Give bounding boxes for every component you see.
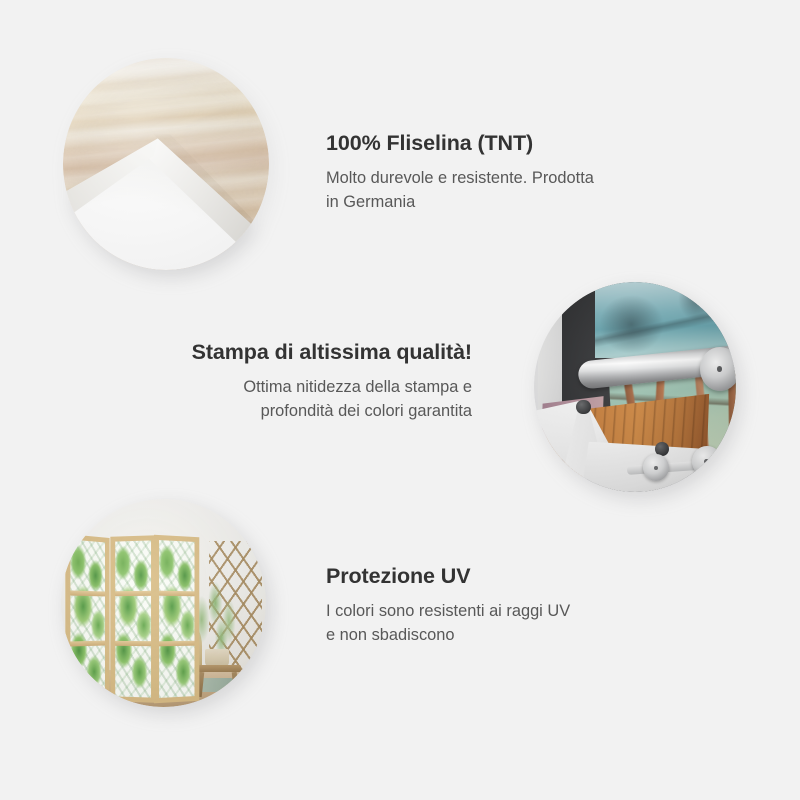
feature-stampa-qualita-body-line-1: Ottima nitidezza della stampa e xyxy=(112,376,472,400)
feature-stampa-qualita-text: Stampa di altissima qualità! Ottima niti… xyxy=(112,340,472,423)
room-vignette xyxy=(61,499,266,707)
feature-protezione-uv-text: Protezione UV I colori sono resistenti a… xyxy=(326,564,686,647)
feature-protezione-uv-body-line-2: e non sbadiscono xyxy=(326,624,686,648)
feature-fliselina-body-line-2: in Germania xyxy=(326,191,686,215)
wallpaper-vignette xyxy=(63,58,269,270)
promo-feature-panel: 100% Fliselina (TNT) Molto durevole e re… xyxy=(0,0,800,800)
tropical-room-divider-circle xyxy=(61,499,266,707)
feature-fliselina-body-line-1: Molto durevole e resistente. Prodotta xyxy=(326,167,686,191)
feature-fliselina-heading: 100% Fliselina (TNT) xyxy=(326,131,686,156)
feature-protezione-uv-heading: Protezione UV xyxy=(326,564,686,589)
feature-stampa-qualita-heading: Stampa di altissima qualità! xyxy=(112,340,472,365)
wallpaper-peel-circle xyxy=(63,58,269,270)
printing-machine-circle xyxy=(534,282,736,492)
printer-vignette xyxy=(534,282,736,492)
feature-stampa-qualita-body-line-2: profondità dei colori garantita xyxy=(112,400,472,424)
feature-protezione-uv-body-line-1: I colori sono resistenti ai raggi UV xyxy=(326,600,686,624)
feature-fliselina-text: 100% Fliselina (TNT) Molto durevole e re… xyxy=(326,131,686,214)
